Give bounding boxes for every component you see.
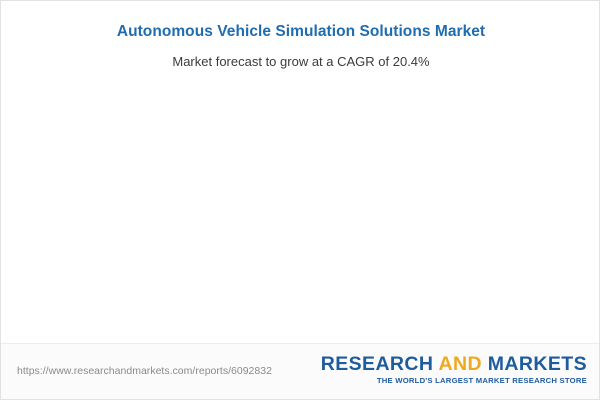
brand-logo[interactable]: RESEARCH AND MARKETS THE WORLD'S LARGEST… <box>321 354 587 385</box>
logo-wordmark: RESEARCH AND MARKETS <box>321 354 587 374</box>
chart-card: Autonomous Vehicle Simulation Solutions … <box>0 0 600 400</box>
logo-tagline: THE WORLD'S LARGEST MARKET RESEARCH STOR… <box>321 376 587 385</box>
logo-word-markets: MARKETS <box>488 353 587 375</box>
plot-area: USD 1.4 Billion 2025 USD 7.3 Billion <box>1 1 600 346</box>
footer: https://www.researchandmarkets.com/repor… <box>1 343 600 399</box>
logo-word-research: RESEARCH <box>321 353 434 375</box>
logo-word-and: AND <box>439 353 482 375</box>
report-url[interactable]: https://www.researchandmarkets.com/repor… <box>17 365 272 377</box>
